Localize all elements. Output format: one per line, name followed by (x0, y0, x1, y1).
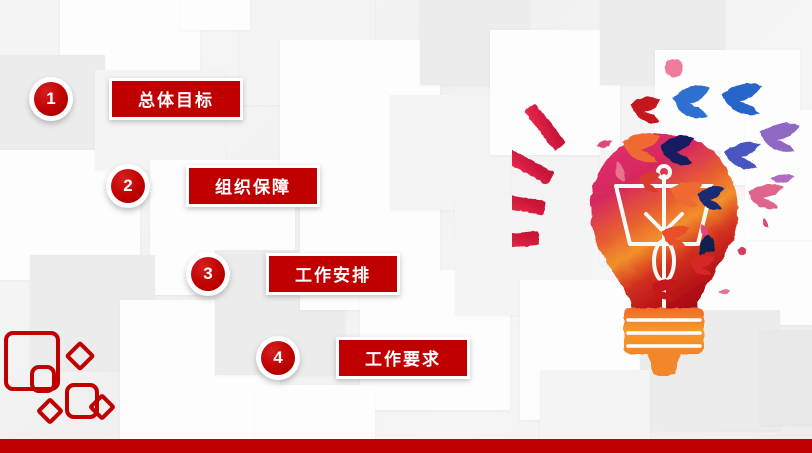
bulb-base (624, 308, 704, 376)
bottom-accent-bar (0, 439, 812, 453)
agenda-number-badge-1[interactable]: 1 (29, 77, 73, 121)
agenda-row-4[interactable]: 4 工作要求 (256, 336, 470, 380)
agenda-row-3[interactable]: 3 工作安排 (186, 252, 400, 296)
agenda-number-3: 3 (191, 257, 225, 291)
agenda-label-1[interactable]: 总体目标 (109, 78, 243, 120)
agenda-number-2: 2 (111, 169, 145, 203)
slide-canvas: 1 总体目标 2 组织保障 3 工作安排 4 工作要求 (0, 0, 812, 453)
background-tile (180, 0, 250, 30)
agenda-label-2[interactable]: 组织保障 (186, 165, 320, 207)
decoration-diamond-left (36, 397, 64, 425)
agenda-number-badge-3[interactable]: 3 (186, 252, 230, 296)
corner-decoration-group (0, 309, 150, 439)
agenda-number-badge-4[interactable]: 4 (256, 336, 300, 380)
agenda-number-badge-2[interactable]: 2 (106, 164, 150, 208)
agenda-number-4: 4 (261, 341, 295, 375)
lightbulb-illustration (512, 46, 812, 376)
decoration-rounded-square-small (30, 365, 56, 393)
agenda-label-4[interactable]: 工作要求 (336, 337, 470, 379)
agenda-label-3[interactable]: 工作安排 (266, 253, 400, 295)
bulb-rays (512, 103, 566, 249)
decoration-diamond-small (64, 340, 95, 371)
agenda-row-1[interactable]: 1 总体目标 (29, 77, 243, 121)
agenda-row-2[interactable]: 2 组织保障 (106, 164, 320, 208)
agenda-number-1: 1 (34, 82, 68, 116)
